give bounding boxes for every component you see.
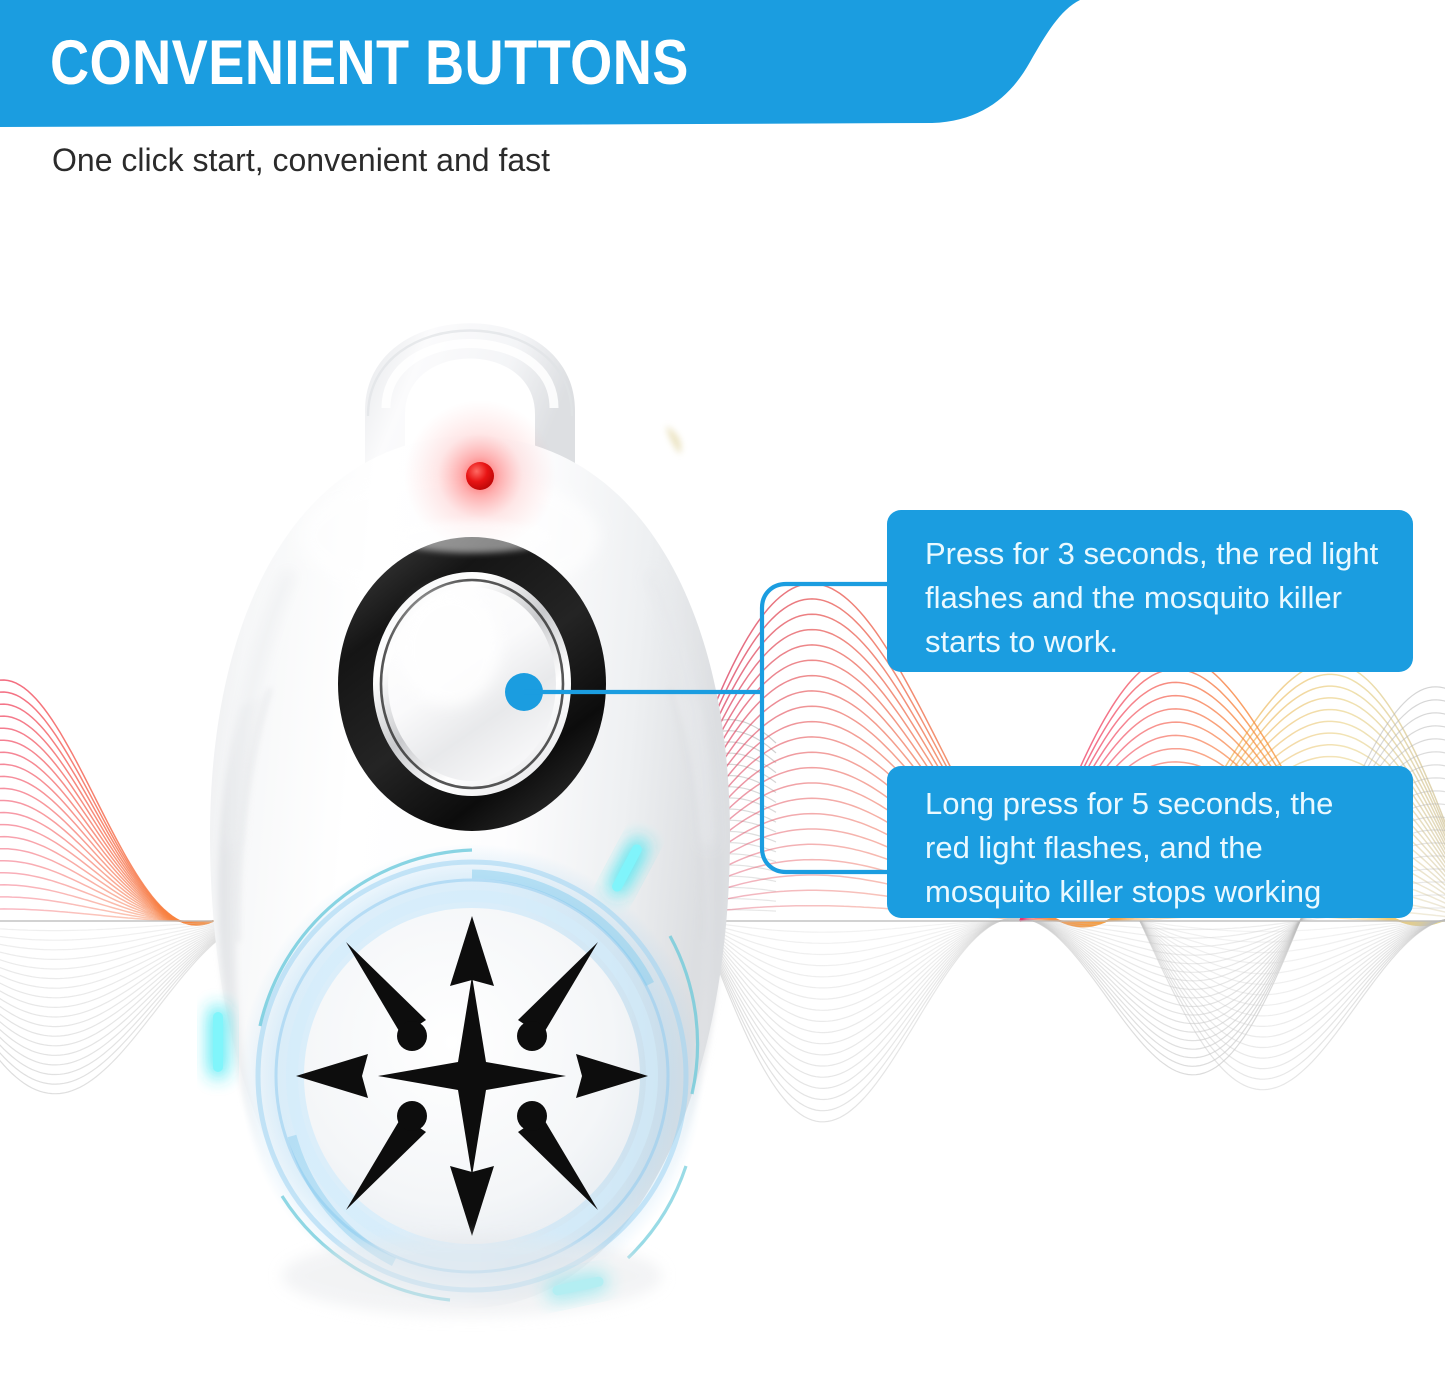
soundwave-curve: [1140, 919, 1445, 1058]
soundwave-curve: [1140, 919, 1445, 1016]
vent-dot-se: [517, 1101, 547, 1131]
callout-press-3-seconds: Press for 3 seconds, the red light flash…: [887, 510, 1413, 672]
device-illustration: [150, 236, 790, 1366]
vent-dot-sw: [397, 1101, 427, 1131]
soundwave-curve: [1140, 920, 1445, 1006]
product-infographic: CONVENIENT BUTTONS One click start, conv…: [0, 0, 1445, 1390]
vent-dot-nw: [397, 1021, 427, 1051]
soundwave-curve: [1140, 920, 1445, 974]
soundwave-curve: [1140, 921, 1445, 932]
side-notch: [666, 426, 681, 454]
soundwave-curve: [1140, 919, 1445, 1037]
header-banner: CONVENIENT BUTTONS: [0, 0, 1100, 128]
vent-dot-ne: [517, 1021, 547, 1051]
soundwave-curve: [1140, 919, 1445, 1069]
callout-long-press-5-seconds: Long press for 5 seconds, the red light …: [887, 766, 1413, 918]
soundwave-curve: [1140, 921, 1445, 953]
page-title: CONVENIENT BUTTONS: [50, 18, 689, 108]
soundwave-curve: [1140, 920, 1445, 995]
soundwave-curve: [1140, 921, 1445, 943]
soundwave-curve: [1140, 920, 1445, 984]
soundwave-curve: [1140, 919, 1445, 1026]
soundwave-curve: [1140, 920, 1445, 963]
soundwave-curve: [1140, 918, 1445, 1090]
page-subtitle: One click start, convenient and fast: [52, 142, 550, 179]
soundwave-curve: [1140, 918, 1445, 1079]
soundwave-curve: [1140, 919, 1445, 1048]
